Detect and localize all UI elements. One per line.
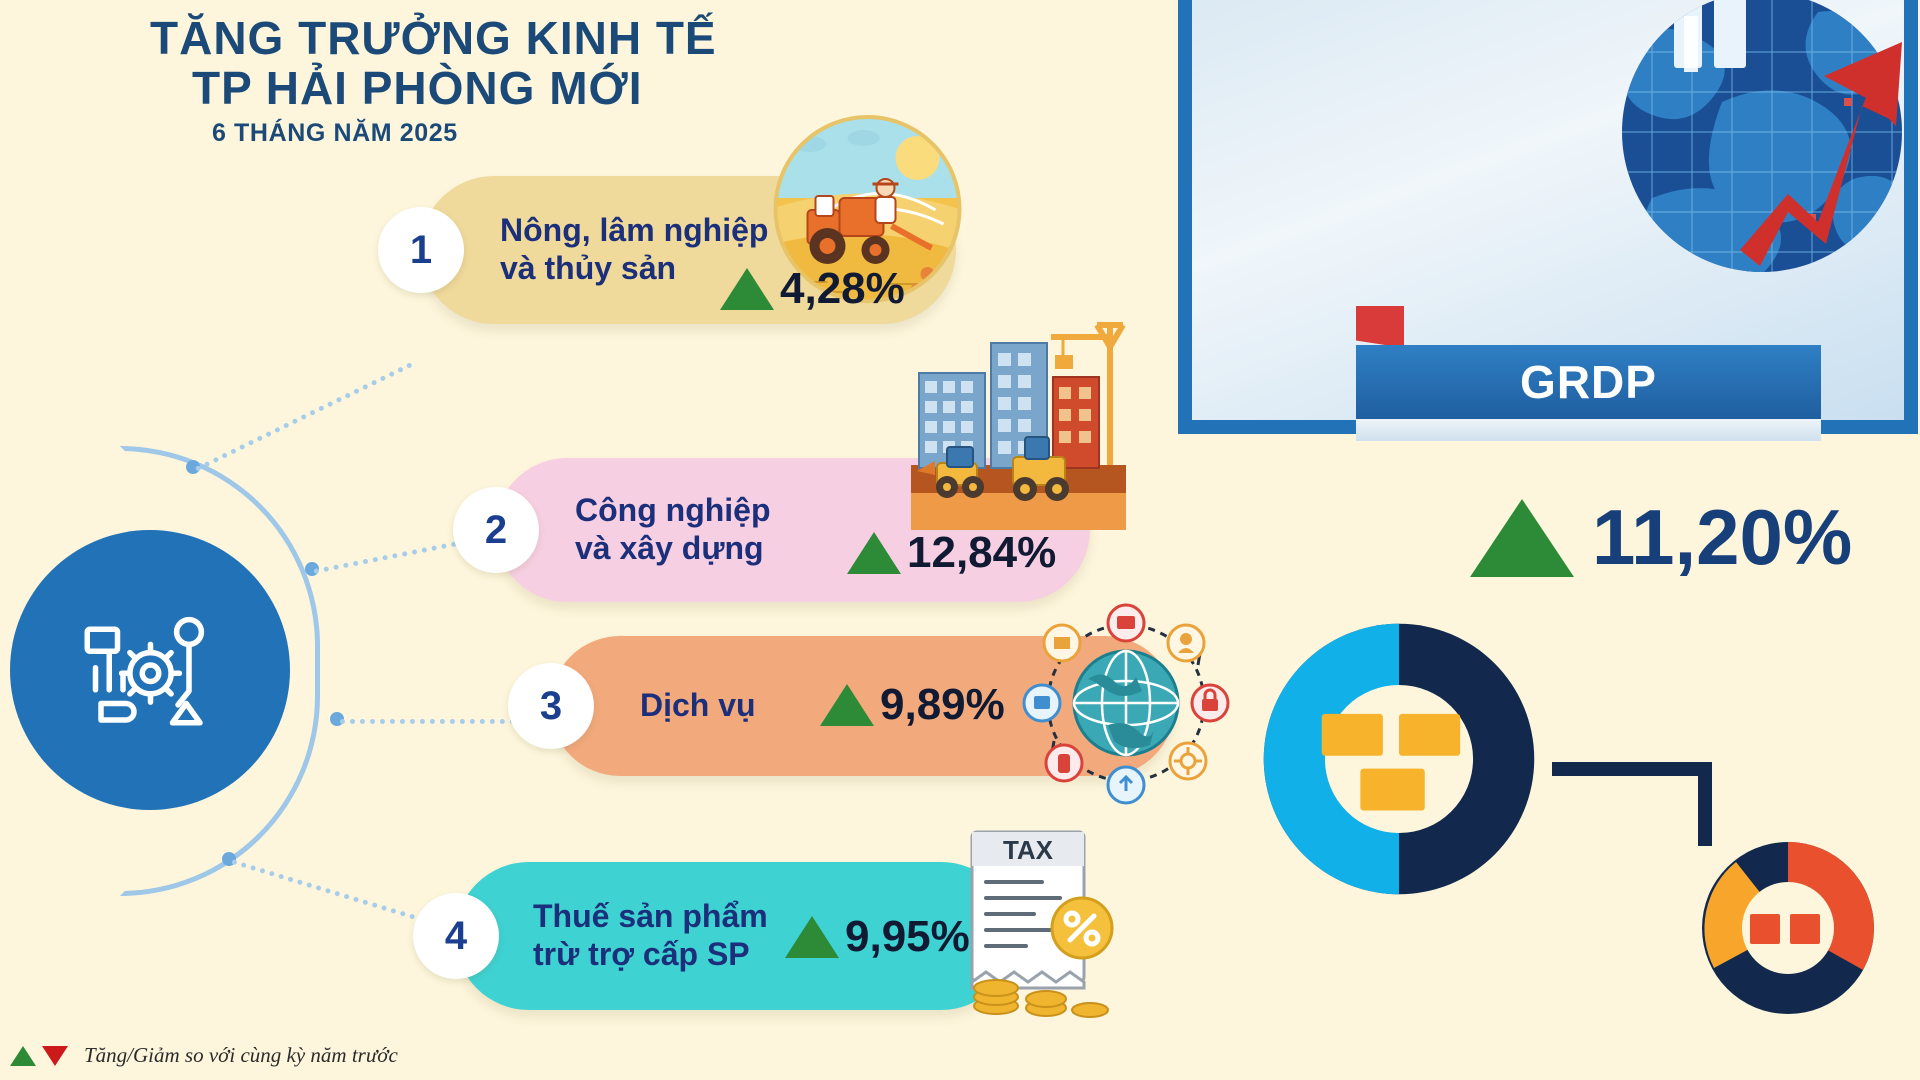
grdp-value: 11,20% [1592, 492, 1852, 583]
sector-card-2[interactable]: 2 Công nghiệp và xây dựng 12,84% [495, 458, 1090, 602]
sector-card-4[interactable]: 4 Thuế sản phẩm trừ trợ cấp SP 9,95% TAX [455, 862, 1015, 1010]
infographic-canvas: TĂNG TRƯỞNG KINH TẾ TP HẢI PHÒNG MỚI 6 T… [0, 0, 1920, 1080]
sector-label: Thuế sản phẩm trừ trợ cấp SP [533, 898, 768, 974]
page-title: TĂNG TRƯỞNG KINH TẾ TP HẢI PHÒNG MỚI 6 T… [150, 14, 717, 148]
sector-number-badge: 2 [453, 487, 539, 573]
tax-document-icon: TAX [942, 820, 1137, 1020]
connector-line-1 [195, 362, 413, 472]
triangle-up-icon [10, 1046, 36, 1066]
triangle-up-icon [847, 532, 901, 574]
sector-value-group: 4,28% [720, 264, 905, 314]
grdp-value-group: 11,20% [1470, 492, 1852, 583]
grdp-label-base [1356, 419, 1821, 441]
page-subtitle: 6 THÁNG NĂM 2025 [150, 119, 717, 148]
construction-site-icon [891, 315, 1126, 530]
sector-value: 9,89% [880, 680, 1005, 730]
triangle-down-icon [42, 1046, 68, 1066]
hub-arc [120, 446, 320, 896]
grdp-label: GRDP [1356, 345, 1821, 419]
sector-value: 12,84% [907, 528, 1056, 578]
sector-value-group: 9,95% [785, 912, 970, 962]
svg-text:TAX: TAX [1003, 835, 1054, 865]
triangle-up-icon [785, 916, 839, 958]
sector-value-group: 9,89% [820, 680, 1005, 730]
sector-card-3[interactable]: 3 Dịch vụ 9,89% [550, 636, 1175, 776]
sector-value-group: 12,84% [847, 528, 1056, 578]
sector-number-badge: 1 [378, 207, 464, 293]
donut-chart-small [1688, 828, 1888, 1028]
donut-chart-large [1238, 598, 1560, 920]
sector-number-badge: 3 [508, 663, 594, 749]
sector-value: 9,95% [845, 912, 970, 962]
globe-growth-arrow-icon [1612, 0, 1912, 292]
sector-label: Công nghiệp và xây dựng [575, 492, 771, 568]
title-line-2: TP HẢI PHÒNG MỚI [150, 64, 717, 114]
legend: Tăng/Giảm so với cùng kỳ năm trước [10, 1043, 398, 1068]
triangle-up-icon [820, 684, 874, 726]
sector-number-badge: 4 [413, 893, 499, 979]
triangle-up-icon [1470, 499, 1574, 577]
sector-label: Dịch vụ [640, 687, 756, 725]
sector-card-1[interactable]: 1 Nông, lâm nghiệp và thủy sản 4,28% [420, 176, 956, 324]
title-line-1: TĂNG TRƯỞNG KINH TẾ [150, 14, 717, 64]
triangle-up-icon [720, 268, 774, 310]
global-services-icon [1014, 591, 1239, 816]
sector-value: 4,28% [780, 264, 905, 314]
legend-note: Tăng/Giảm so với cùng kỳ năm trước [84, 1043, 398, 1068]
